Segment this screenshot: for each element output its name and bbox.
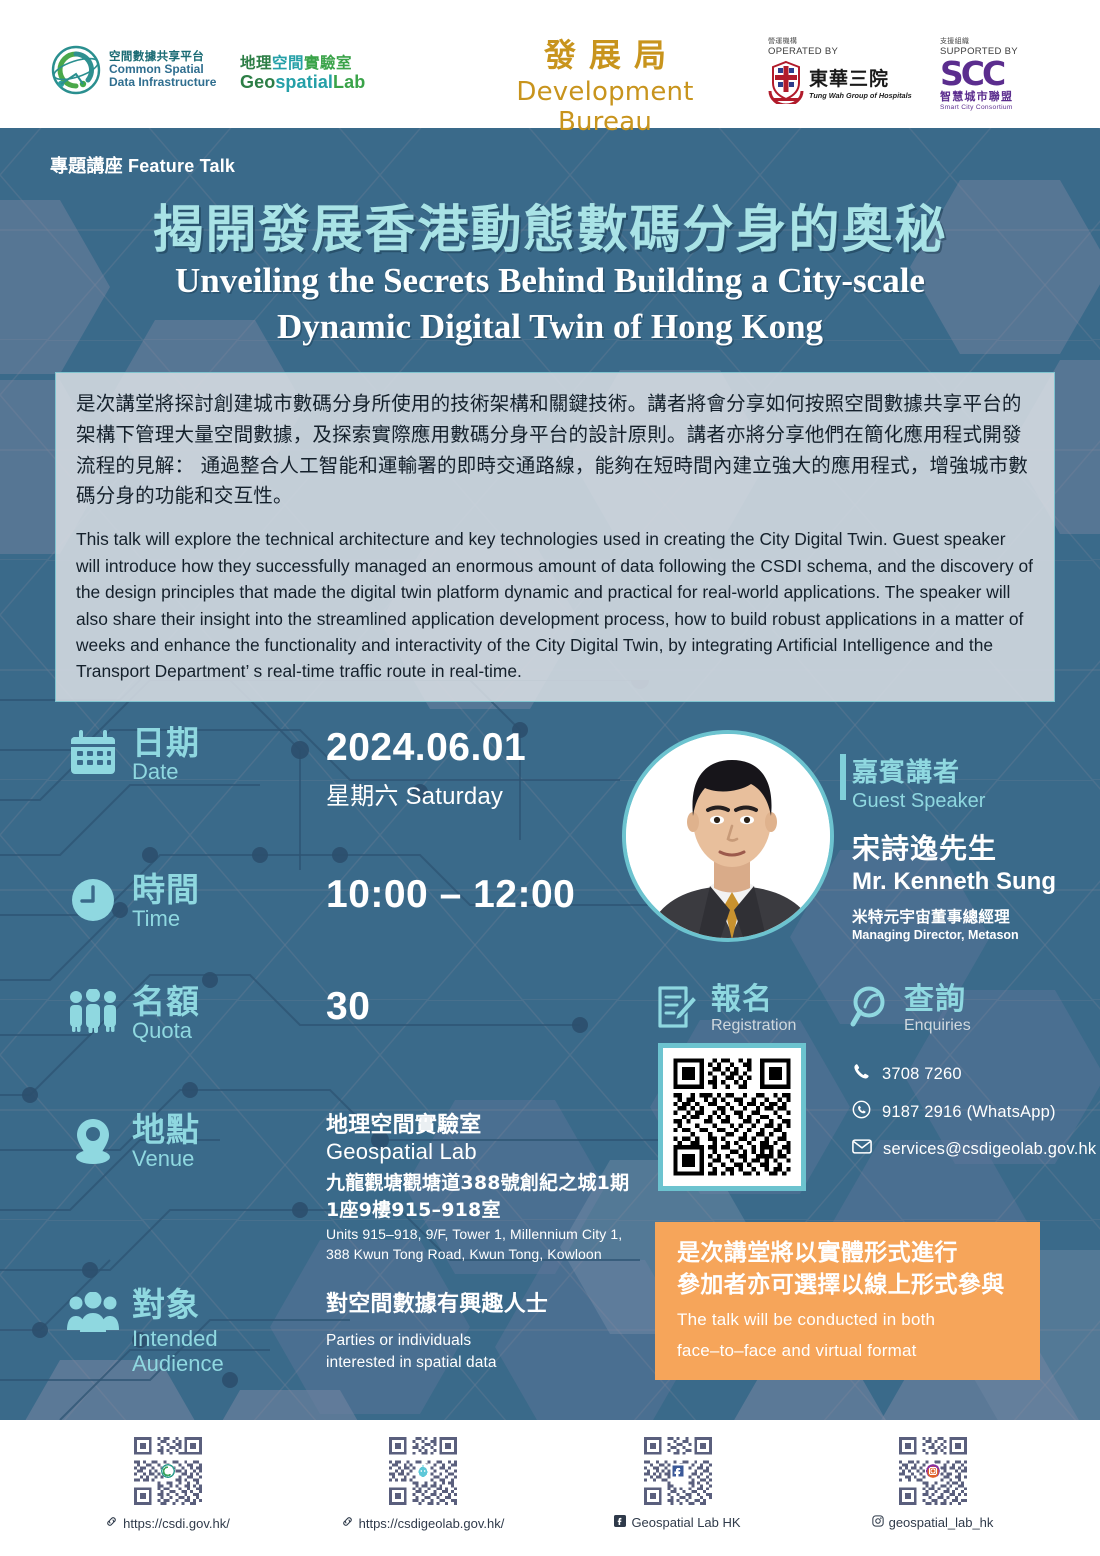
operated-by-en: OPERATED BY [768,46,912,57]
supported-by-block: 支援組織 SUPPORTED BY SCC 智慧城市聯盟 Smart City … [940,36,1018,111]
magnifier-icon [850,985,894,1034]
enquiries-label-en: Enquiries [904,1017,971,1035]
gsl-zh-a: 地理 [240,55,272,72]
instagram-qr[interactable] [896,1434,970,1508]
venue-name-en: Geospatial Lab [326,1139,629,1165]
audience-label-zh: 對象 [132,1288,274,1321]
info-row-time: 時間 Time 10:00 – 12:00 [62,873,575,930]
contact-email-text: services@csdigeolab.gov.hk [883,1140,1096,1159]
registration-label-en: Registration [711,1017,796,1035]
poster-title-zh: 揭開發展香港動態數碼分身的奧秘 [0,188,1100,262]
geolab-website-qr[interactable] [386,1434,460,1508]
csdi-logo: 空間數據共享平台 Common Spatial Data Infrastruct… [50,44,216,96]
date-label-en: Date [132,761,274,783]
bureau-title-en: Development Bureau [480,77,730,137]
audience-value-block: 對空間數據有興趣人士 Parties or individuals intere… [326,1286,548,1374]
speaker-name-zh: 宋詩逸先生 [852,827,1056,867]
time-label-zh: 時間 [132,873,274,906]
notice-zh-line1: 是次講堂將以實體形式進行 [677,1238,1020,1270]
audience-value-zh: 對空間數據有興趣人士 [326,1286,548,1318]
gsl-en-a: Geo [240,72,275,92]
enquiries-label-zh: 查詢 [904,985,971,1015]
speaker-title-en: Managing Director, Metason [852,928,1056,942]
tung-wah-seal-icon [768,60,804,104]
venue-addr-zh-1: 九龍觀塘觀塘道388號創紀之城1期 [326,1168,629,1195]
date-weekday: 星期六 Saturday [326,776,526,811]
contact-email[interactable]: services@csdigeolab.gov.hk [852,1138,1096,1160]
tung-wah-name-en: Tung Wah Group of Hospitals [809,91,912,100]
audience-label-en-2: Audience [132,1352,274,1377]
date-value: 2024.06.01 [326,726,526,770]
footer-link-facebook[interactable]: Geospatial Lab HK [550,1434,805,1530]
quota-value-block: 30 [326,985,370,1029]
operated-by-zh: 營運機構 [768,36,912,46]
audience-value-en-2: interested in spatial data [326,1352,548,1374]
time-label-en: Time [132,908,274,930]
info-row-venue: 地點 Venue 地理空間實驗室 Geospatial Lab 九龍觀塘觀塘道3… [62,1113,629,1265]
quota-label: 名額 Quota [124,985,274,1042]
abstract-zh: 是次講堂將探討創建城市數碼分身所使用的技術架構和關鍵技術。講者將會分享如何按照空… [76,389,1034,512]
csdi-logo-en-2: Data Infrastructure [109,76,216,89]
bureau-title-zh: 發展局 [480,30,730,76]
date-value-block: 2024.06.01 星期六 Saturday [326,726,526,811]
abstract-en: This talk will explore the technical arc… [76,526,1034,685]
speaker-title-zh: 米特元宇宙董事總經理 [852,905,1056,927]
scc-logo-abbr: SCC [940,60,1018,88]
scc-name-en: Smart City Consortium [940,104,1018,111]
quota-label-zh: 名額 [132,985,274,1018]
venue-addr-zh-2: 1座9樓915–918室 [326,1195,629,1222]
abstract-panel: 是次講堂將探討創建城市數碼分身所使用的技術架構和關鍵技術。講者將會分享如何按照空… [55,372,1055,702]
registration-qr-code[interactable] [658,1043,806,1191]
registration-header: 報名 Registration [655,985,796,1035]
form-pencil-icon [655,985,699,1034]
contact-whatsapp-text: 9187 2916 (WhatsApp) [882,1103,1056,1122]
gsl-en-c: Lab [333,72,365,92]
time-label: 時間 Time [124,873,274,930]
registration-label-zh: 報名 [711,985,796,1015]
operated-by-block: 營運機構 OPERATED BY [768,36,912,104]
envelope-icon [852,1138,872,1160]
contact-phone-text: 3708 7260 [882,1065,962,1084]
date-label: 日期 Date [124,726,274,783]
footer-link-label-2: Geospatial Lab HK [631,1515,740,1530]
gsl-zh-c: 實驗室 [304,55,352,72]
development-bureau-logo: 發展局 Development Bureau [480,30,730,137]
info-row-audience: 對象 Intended Audience 對空間數據有興趣人士 Parties … [62,1288,548,1376]
csdi-globe-icon [50,44,102,96]
footer-link-csdi[interactable]: https://csdi.gov.hk/ [40,1434,295,1531]
csdi-website-qr[interactable] [131,1434,205,1508]
poster-title-en-line2: Dynamic Digital Twin of Hong Kong [0,304,1100,350]
info-row-date: 日期 Date 2024.06.01 星期六 Saturday [62,726,526,811]
scc-name-zh: 智慧城市聯盟 [940,88,1018,104]
venue-value-block: 地理空間實驗室 Geospatial Lab 九龍觀塘觀塘道388號創紀之城1期… [326,1107,629,1265]
instagram-icon [872,1515,884,1530]
quota-label-en: Quota [132,1020,274,1042]
venue-label: 地點 Venue [124,1113,274,1170]
poster-root: 空間數據共享平台 Common Spatial Data Infrastruct… [0,0,1100,1556]
phone-icon [852,1062,871,1086]
supported-by-zh: 支援組織 [940,36,1018,46]
quota-value: 30 [326,985,370,1029]
notice-en-line2: face–to–face and virtual format [677,1340,1020,1362]
footer-link-instagram[interactable]: geospatial_lab_hk [805,1434,1060,1530]
facebook-qr[interactable] [641,1434,715,1508]
format-notice-box: 是次講堂將以實體形式進行 參加者亦可選擇以線上形式參與 The talk wil… [655,1222,1040,1380]
gsl-zh-b: 空間 [272,55,304,72]
speaker-info: 嘉賓講者 Guest Speaker 宋詩逸先生 Mr. Kenneth Sun… [852,752,1056,942]
venue-addr-en-2: 388 Kwun Tong Road, Kwun Tong, Kowloon [326,1245,629,1265]
date-label-zh: 日期 [132,726,274,759]
time-value-block: 10:00 – 12:00 [326,873,575,917]
people-group-icon [62,985,124,1033]
time-value: 10:00 – 12:00 [326,873,575,917]
footer-link-label-1: https://csdigeolab.gov.hk/ [359,1516,505,1531]
contact-phone[interactable]: 3708 7260 [852,1062,1096,1086]
clock-icon [62,873,124,923]
audience-icon [62,1288,124,1334]
facebook-icon [614,1515,626,1530]
enquiries-contact-list: 3708 7260 9187 2916 (WhatsApp) services@… [852,1062,1096,1174]
audience-label-en-1: Intended [132,1327,274,1352]
guest-speaker-heading-en: Guest Speaker [852,790,1056,813]
venue-label-en: Venue [132,1148,274,1170]
enquiries-header: 查詢 Enquiries [850,985,971,1035]
footer-link-geolab[interactable]: https://csdigeolab.gov.hk/ [295,1434,550,1531]
link-icon [341,1515,354,1531]
calendar-icon [62,726,124,776]
footer-link-label-0: https://csdi.gov.hk/ [123,1516,230,1531]
venue-addr-en-1: Units 915–918, 9/F, Tower 1, Millennium … [326,1225,629,1245]
poster-header: 空間數據共享平台 Common Spatial Data Infrastruct… [0,0,1100,128]
venue-label-zh: 地點 [132,1113,274,1146]
link-icon [105,1515,118,1531]
feature-talk-tag: 專題講座 Feature Talk [50,152,235,178]
guest-speaker-accent-bar [840,754,846,800]
tung-wah-name-zh: 東華三院 [809,64,912,91]
poster-footer: https://csdi.gov.hk/ [0,1420,1100,1556]
poster-title-en: Unveiling the Secrets Behind Building a … [0,258,1100,350]
poster-title-en-line1: Unveiling the Secrets Behind Building a … [0,258,1100,304]
notice-zh-line2: 參加者亦可選擇以線上形式參與 [677,1270,1020,1302]
audience-label: 對象 Intended Audience [124,1288,274,1376]
whatsapp-icon [852,1100,871,1124]
gsl-en-b: spatial [275,72,333,92]
speaker-name-en: Mr. Kenneth Sung [852,868,1056,896]
footer-link-label-3: geospatial_lab_hk [889,1515,994,1530]
geospatial-lab-logo: 地理空間實驗室 GeospatialLab [240,55,365,93]
info-row-quota: 名額 Quota 30 [62,985,370,1042]
speaker-portrait [622,730,834,942]
notice-en-line1: The talk will be conducted in both [677,1309,1020,1331]
audience-value-en-1: Parties or individuals [326,1330,548,1352]
map-pin-icon [62,1113,124,1167]
contact-whatsapp[interactable]: 9187 2916 (WhatsApp) [852,1100,1096,1124]
guest-speaker-heading-zh: 嘉賓講者 [852,752,1056,789]
venue-name-zh: 地理空間實驗室 [326,1107,629,1139]
